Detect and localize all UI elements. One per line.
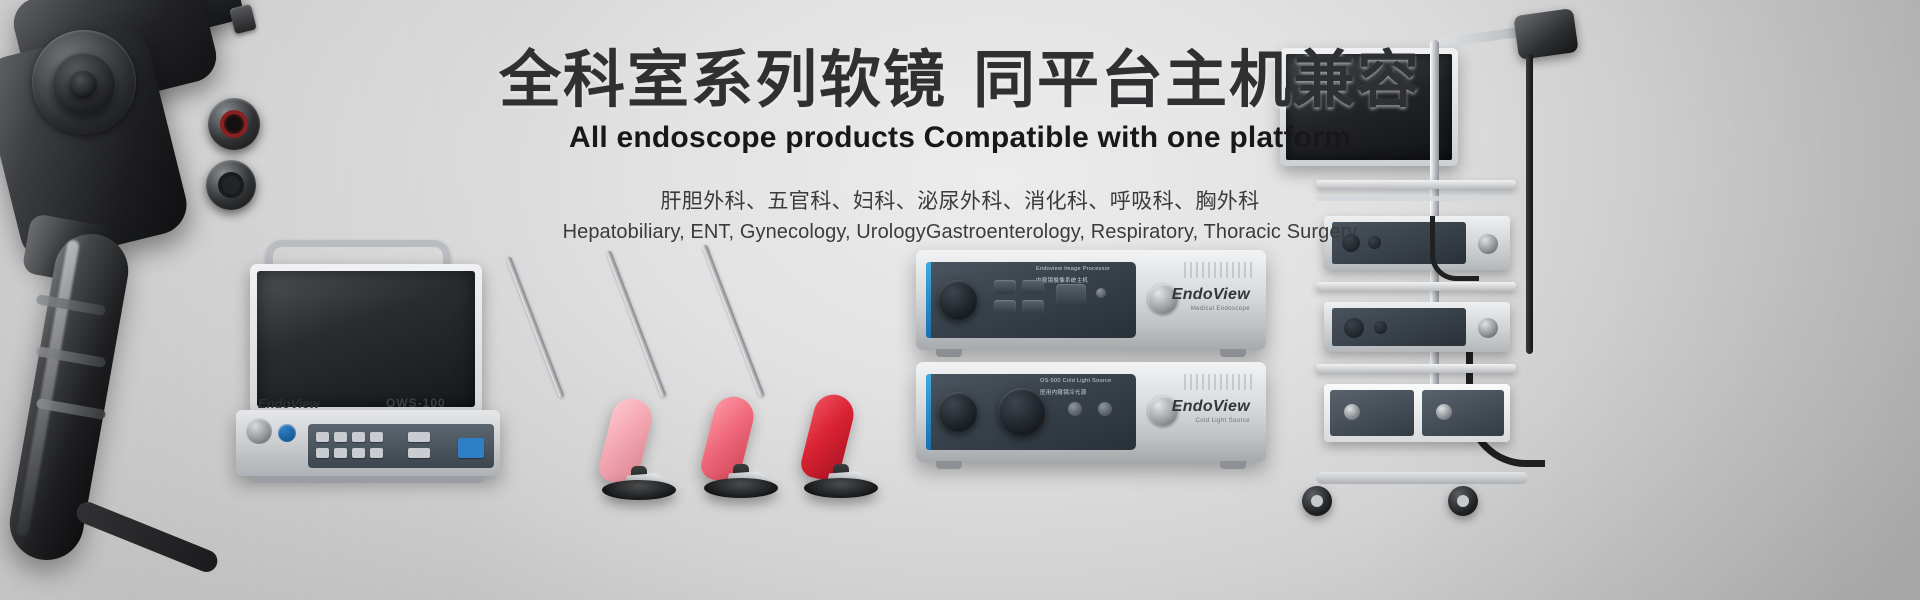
endoscope-distal-tube [73,499,220,576]
camera-processor-unit: Endoview Image Processor 内窥镜摄像系统主机 EndoV… [916,250,1266,350]
headline: 全科室系列软镜同平台主机兼容 [0,46,1920,115]
light-source-panel-title-en: OS-500 Cold Light Source [1040,378,1111,384]
cart-shelf-3 [1316,364,1516,373]
light-source-brand-label: EndoView [1172,398,1250,416]
workstation-control-panel [308,424,494,468]
specialty-list-english: Hepatobiliary, ENT, Gynecology, UrologyG… [0,221,1920,244]
processor-brand-label: EndoView [1172,286,1250,304]
light-source-standby-button [1068,402,1082,416]
processor-button-pip [1022,300,1044,314]
laparoscope-shaft [506,256,564,398]
processor-accent-bar [926,262,931,338]
cart-device-2 [1324,302,1510,352]
processor-button-wb [994,280,1016,294]
processor-button-menu [1022,280,1044,294]
light-source-brand-subtitle: Cold Light Source [1196,418,1251,424]
workstation-model-label: OWS-100 [386,396,446,410]
workstation-screen [257,271,475,407]
processor-indicator-led [1096,288,1106,298]
laparoscope-shaft [702,244,765,397]
headline-part-2: 同平台主机兼容 [973,46,1421,115]
workstation-port-main [246,418,272,444]
specialty-list-chinese: 肝胆外科、五官科、妇科、泌尿外科、消化科、呼吸科、胸外科 [0,185,1920,215]
laparoscope-shaft [606,250,667,397]
promo-banner: EndoView OWS-100 [0,0,1920,600]
light-source-panel-title-cn: 医用内窥镜冷光源 [1040,388,1086,396]
banner-text-block: 全科室系列软镜同平台主机兼容 All endoscope products Co… [0,46,1920,244]
laparoscope-stand [804,478,878,498]
processor-brand-subtitle: Medical Endoscope [1191,306,1250,312]
cart-wheel-right [1448,486,1478,516]
workstation-display-bezel [250,264,482,414]
cart-device-3 [1324,384,1510,442]
endoscope-button-3 [229,4,257,35]
cart-base [1316,472,1528,484]
light-source-accent-bar [926,374,931,450]
processor-vent-grille [1184,262,1254,278]
processor-main-knob [938,280,978,320]
workstation-image: EndoView OWS-100 [236,240,500,480]
workstation-port-light [278,424,296,442]
light-source-vent-grille [1184,374,1254,390]
light-source-unit: OS-500 Cold Light Source 医用内窥镜冷光源 EndoVi… [916,362,1266,462]
workstation-brand-label: EndoView [258,396,320,411]
processor-display-window [1056,284,1086,306]
processor-panel-title-en: Endoview Image Processor [1036,266,1110,272]
workstation-feet [252,476,484,483]
light-source-brightness-knob [998,388,1046,436]
headline-part-1: 全科室系列软镜 [499,46,947,115]
cart-wheel-left [1302,486,1332,516]
subheadline-english: All endoscope products Compatible with o… [0,121,1920,155]
workstation-base: EndoView OWS-100 [236,410,500,476]
laparoscope-red-image [702,246,878,488]
console-stack-image: Endoview Image Processor 内窥镜摄像系统主机 EndoV… [916,250,1276,486]
processor-button-rec [994,300,1016,314]
light-source-output-socket [938,392,978,432]
light-source-lamp-button [1098,402,1112,416]
cart-shelf-2 [1316,282,1516,291]
